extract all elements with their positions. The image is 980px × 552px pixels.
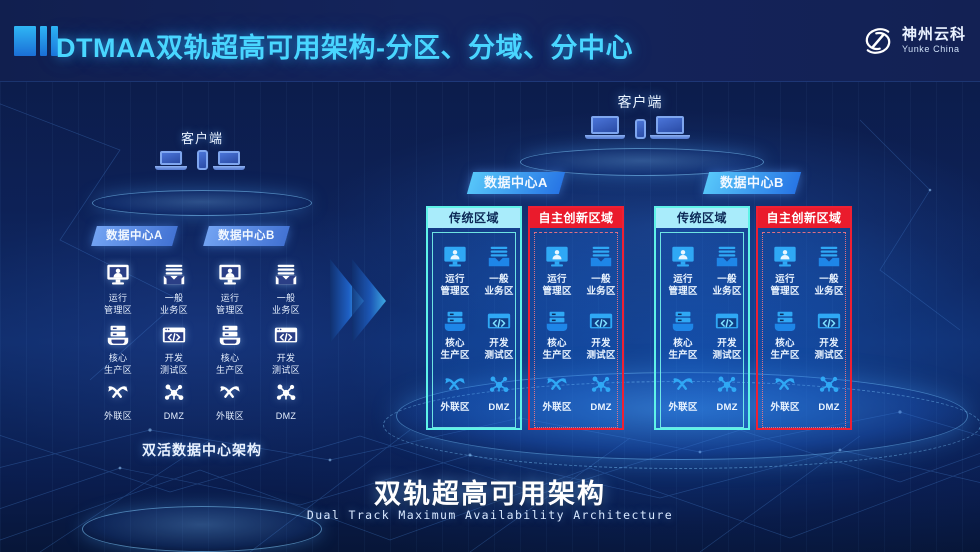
page-title: DTMAA双轨超高可用架构-分区、分域、分中心: [56, 26, 633, 65]
zone-core-production: 核心 生产区: [763, 305, 807, 369]
zone-runtime-mgmt: 运行 管理区: [535, 241, 579, 305]
zone-label-line1: 开发: [807, 338, 851, 349]
inbox-tray-icon: [260, 258, 312, 292]
panel-dcb-traditional[interactable]: 传统区域 运行 管理区 一般 业务区 核心 生产区: [654, 206, 750, 430]
server-stack-icon: [204, 318, 256, 352]
panel-header: 传统区域: [428, 208, 520, 228]
server-stack-icon: [535, 305, 579, 337]
zone-label-line1: 一般: [477, 274, 521, 285]
zone-label-line1: DMZ: [148, 411, 200, 422]
zone-label-line1: DMZ: [477, 402, 521, 413]
zone-label-line1: 外联区: [535, 402, 579, 413]
zone-dmz: DMZ: [477, 369, 521, 433]
left-dca-zone-external: 外联区: [92, 376, 144, 422]
panel-zone-grid: 运行 管理区 一般 业务区 核心 生产区 开发: [762, 232, 846, 428]
zone-label-line1: DMZ: [807, 402, 851, 413]
zone-label-line2: 测试区: [260, 365, 312, 376]
right-datacenter-b-label: 数据中心B: [720, 172, 784, 194]
left-datacenter-b-label: 数据中心B: [218, 226, 275, 246]
network-node-icon: [705, 369, 749, 401]
zone-label-line2: 测试区: [477, 350, 521, 361]
right-client-devices: [560, 116, 720, 139]
server-stack-icon: [92, 318, 144, 352]
zone-general-business: 一般 业务区: [477, 241, 521, 305]
panel-zone-grid: 运行 管理区 一般 业务区 核心 生产区 开发: [534, 232, 618, 428]
zone-label-line2: 测试区: [807, 350, 851, 361]
right-client-label: 客户端: [560, 92, 720, 112]
zone-label-line1: 一般: [579, 274, 623, 285]
left-datacenter-a-label: 数据中心A: [106, 226, 163, 246]
inbox-tray-icon: [705, 241, 749, 273]
zone-label-line1: 一般: [807, 274, 851, 285]
left-dca-zone-general-business: 一般 业务区: [148, 258, 200, 316]
panel-header: 自主创新区域: [758, 208, 850, 228]
zone-label-line1: 开发: [477, 338, 521, 349]
code-window-icon: [579, 305, 623, 337]
right-datacenter-b-banner: 数据中心B: [703, 172, 801, 194]
zone-label-line2: 业务区: [705, 286, 749, 297]
right-datacenter-a-banner: 数据中心A: [467, 172, 565, 194]
zone-label-line1: 核心: [204, 353, 256, 364]
zone-label-line1: 核心: [92, 353, 144, 364]
zone-label-line2: 测试区: [148, 365, 200, 376]
zone-label-line2: 业务区: [148, 305, 200, 316]
laptop-icon: [591, 116, 625, 139]
code-window-icon: [807, 305, 851, 337]
cross-arrows-icon: [661, 369, 705, 401]
cross-arrows-icon: [92, 376, 144, 410]
network-node-icon: [148, 376, 200, 410]
footer-title-cn: 双轨超高可用架构: [0, 472, 980, 511]
zone-label-line1: 开发: [579, 338, 623, 349]
zone-label-line1: DMZ: [579, 402, 623, 413]
zone-external: 外联区: [763, 369, 807, 433]
left-datacenter-b-banner: 数据中心B: [203, 226, 290, 246]
chevron-right-arrow-icon: [326, 255, 388, 347]
zone-core-production: 核心 生产区: [535, 305, 579, 369]
cross-arrows-icon: [433, 369, 477, 401]
code-window-icon: [260, 318, 312, 352]
header-bar: DTMAA双轨超高可用架构-分区、分域、分中心 神州云科 Yunke China: [0, 0, 980, 82]
zone-dev-test: 开发 测试区: [477, 305, 521, 369]
network-node-icon: [477, 369, 521, 401]
network-node-icon: [807, 369, 851, 401]
panel-zone-grid: 运行 管理区 一般 业务区 核心 生产区 开发: [432, 232, 516, 428]
left-datacenter-a-banner: 数据中心A: [91, 226, 178, 246]
zone-general-business: 一般 业务区: [807, 241, 851, 305]
slide-canvas: DTMAA双轨超高可用架构-分区、分域、分中心 神州云科 Yunke China…: [0, 0, 980, 552]
zone-label-line1: 运行: [204, 293, 256, 304]
zone-runtime-mgmt: 运行 管理区: [763, 241, 807, 305]
left-dca-zone-dmz: DMZ: [148, 376, 200, 422]
zone-core-production: 核心 生产区: [433, 305, 477, 369]
brand-logo: 神州云科 Yunke China: [861, 24, 966, 58]
zone-label-line1: 一般: [705, 274, 749, 285]
zone-general-business: 一般 业务区: [705, 241, 749, 305]
left-client-platform: [92, 190, 312, 216]
zone-label-line2: 管理区: [763, 286, 807, 297]
left-client-label: 客户端: [86, 128, 318, 147]
zone-label-line2: 生产区: [204, 365, 256, 376]
cross-arrows-icon: [763, 369, 807, 401]
left-client-devices: [86, 150, 318, 170]
zone-general-business: 一般 业务区: [579, 241, 623, 305]
left-diagram-caption: 双活数据中心架构: [86, 440, 318, 460]
network-node-icon: [579, 369, 623, 401]
zone-label-line1: 核心: [661, 338, 705, 349]
phone-icon: [635, 119, 646, 139]
zone-external: 外联区: [433, 369, 477, 433]
zone-label-line1: 核心: [433, 338, 477, 349]
zone-runtime-mgmt: 运行 管理区: [661, 241, 705, 305]
panel-dcb-innovation[interactable]: 自主创新区域 运行 管理区 一般 业务区 核心 生: [756, 206, 852, 430]
code-window-icon: [148, 318, 200, 352]
zone-dmz: DMZ: [807, 369, 851, 433]
laptop-icon: [160, 151, 187, 170]
user-monitor-icon: [661, 241, 705, 273]
user-monitor-icon: [763, 241, 807, 273]
zone-label-line1: 核心: [763, 338, 807, 349]
zone-label-line1: DMZ: [260, 411, 312, 422]
zone-label-line1: 一般: [260, 293, 312, 304]
network-node-icon: [260, 376, 312, 410]
left-dcb-zone-general-business: 一般 业务区: [260, 258, 312, 316]
zone-label-line1: 外联区: [433, 402, 477, 413]
zone-label-line1: 运行: [661, 274, 705, 285]
right-datacenter-a-label: 数据中心A: [484, 172, 548, 194]
zone-label-line1: 开发: [705, 338, 749, 349]
left-dcb-zone-external: 外联区: [204, 376, 256, 422]
inbox-tray-icon: [807, 241, 851, 273]
zone-label-line1: 开发: [260, 353, 312, 364]
left-dcb-zone-core-production: 核心 生产区: [204, 318, 256, 376]
code-window-icon: [477, 305, 521, 337]
cross-arrows-icon: [535, 369, 579, 401]
zone-label-line2: 生产区: [763, 350, 807, 361]
zone-label-line2: 业务区: [260, 305, 312, 316]
swirl-logo-icon: [861, 24, 895, 58]
brand-name-cn: 神州云科: [902, 27, 966, 43]
code-window-icon: [705, 305, 749, 337]
panel-dca-innovation[interactable]: 自主创新区域 运行 管理区 一般 业务区 核心 生: [528, 206, 624, 430]
zone-dev-test: 开发 测试区: [579, 305, 623, 369]
zone-label-line2: 管理区: [661, 286, 705, 297]
brand-name-en: Yunke China: [902, 45, 966, 54]
zone-label-line2: 管理区: [204, 305, 256, 316]
left-dcb-zone-dmz: DMZ: [260, 376, 312, 422]
zone-dev-test: 开发 测试区: [705, 305, 749, 369]
user-monitor-icon: [535, 241, 579, 273]
panel-zone-grid: 运行 管理区 一般 业务区 核心 生产区 开发: [660, 232, 744, 428]
server-stack-icon: [763, 305, 807, 337]
zone-external: 外联区: [535, 369, 579, 433]
zone-label-line2: 生产区: [661, 350, 705, 361]
laptop-icon: [218, 151, 245, 170]
zone-label-line1: 外联区: [661, 402, 705, 413]
panel-dca-traditional[interactable]: 传统区域 运行 管理区 一般 业务区 核心 生产区: [426, 206, 522, 430]
user-monitor-icon: [204, 258, 256, 292]
zone-dmz: DMZ: [705, 369, 749, 433]
panel-header: 传统区域: [656, 208, 748, 228]
zone-label-line1: 核心: [535, 338, 579, 349]
zone-label-line2: 业务区: [477, 286, 521, 297]
zone-label-line1: 运行: [433, 274, 477, 285]
inbox-tray-icon: [579, 241, 623, 273]
user-monitor-icon: [92, 258, 144, 292]
footer-title-en: Dual Track Maximum Availability Architec…: [0, 508, 980, 522]
left-dca-zone-dev-test: 开发 测试区: [148, 318, 200, 376]
zone-label-line2: 测试区: [579, 350, 623, 361]
zone-label-line2: 业务区: [579, 286, 623, 297]
three-bars-icon: [14, 26, 58, 56]
panel-header: 自主创新区域: [530, 208, 622, 228]
zone-label-line1: 开发: [148, 353, 200, 364]
zone-core-production: 核心 生产区: [661, 305, 705, 369]
zone-label-line1: 外联区: [92, 411, 144, 422]
left-dcb-zone-runtime-mgmt: 运行 管理区: [204, 258, 256, 316]
inbox-tray-icon: [148, 258, 200, 292]
server-stack-icon: [661, 305, 705, 337]
zone-label-line2: 管理区: [92, 305, 144, 316]
zone-label-line2: 测试区: [705, 350, 749, 361]
zone-label-line2: 生产区: [535, 350, 579, 361]
zone-label-line1: 外联区: [763, 402, 807, 413]
zone-label-line2: 生产区: [92, 365, 144, 376]
zone-label-line1: 一般: [148, 293, 200, 304]
zone-label-line2: 管理区: [433, 286, 477, 297]
inbox-tray-icon: [477, 241, 521, 273]
laptop-icon: [656, 116, 690, 139]
zone-external: 外联区: [661, 369, 705, 433]
zone-label-line1: 运行: [535, 274, 579, 285]
user-monitor-icon: [433, 241, 477, 273]
zone-label-line1: 运行: [92, 293, 144, 304]
legacy-architecture-diagram: 客户端 数据中心A 数据中心B 运行 管理区 一般 业务区: [86, 128, 318, 458]
zone-label-line2: 管理区: [535, 286, 579, 297]
zone-dmz: DMZ: [579, 369, 623, 433]
phone-icon: [197, 150, 208, 170]
zone-label-line1: DMZ: [705, 402, 749, 413]
zone-label-line1: 运行: [763, 274, 807, 285]
server-stack-icon: [433, 305, 477, 337]
zone-label-line2: 业务区: [807, 286, 851, 297]
left-dca-zone-runtime-mgmt: 运行 管理区: [92, 258, 144, 316]
zone-label-line1: 外联区: [204, 411, 256, 422]
zone-dev-test: 开发 测试区: [807, 305, 851, 369]
left-dcb-zone-dev-test: 开发 测试区: [260, 318, 312, 376]
left-dca-zone-core-production: 核心 生产区: [92, 318, 144, 376]
zone-runtime-mgmt: 运行 管理区: [433, 241, 477, 305]
zone-label-line2: 生产区: [433, 350, 477, 361]
cross-arrows-icon: [204, 376, 256, 410]
